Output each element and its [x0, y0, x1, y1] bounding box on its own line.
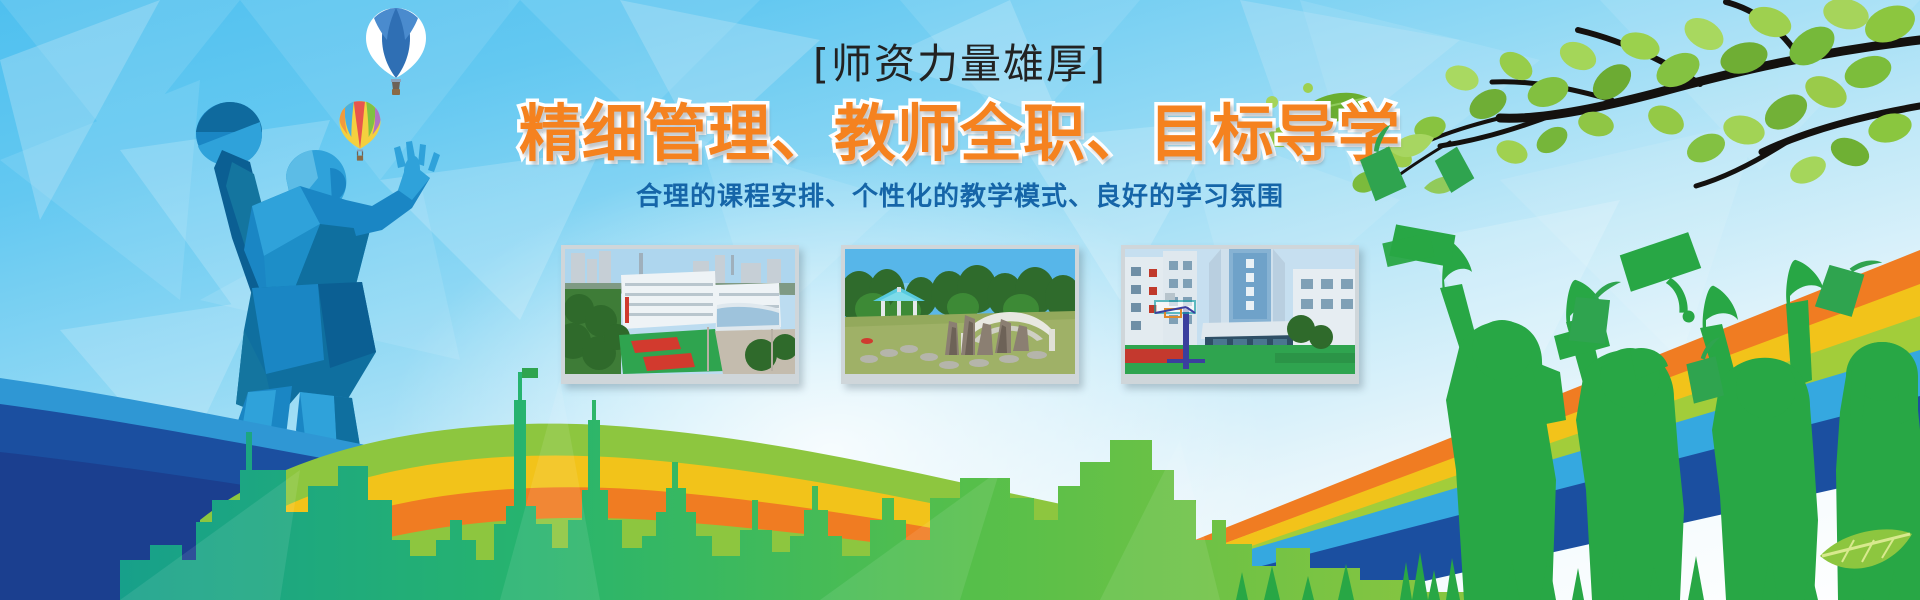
school-promo-banner: [师资力量雄厚] 精细管理、教师全职、目标导学 合理的课程安排、个性化的教学模式… [0, 0, 1920, 600]
campus-photo-3[interactable] [1121, 245, 1359, 384]
page-title: 精细管理、教师全职、目标导学 [0, 101, 1920, 168]
subtitle-text: 合理的课程安排、个性化的教学模式、良好的学习氛围 [0, 184, 1920, 210]
campus-garden-bridge-image [845, 249, 1075, 374]
banner-text-block: [师资力量雄厚] 精细管理、教师全职、目标导学 合理的课程安排、个性化的教学模式… [0, 0, 1920, 210]
campus-photo-strip [0, 245, 1920, 384]
campus-aerial-view-image [565, 249, 795, 374]
school-main-building-image [1125, 249, 1355, 374]
eyebrow-text: [师资力量雄厚] [0, 44, 1920, 85]
campus-photo-2[interactable] [841, 245, 1079, 384]
campus-photo-1[interactable] [561, 245, 799, 384]
